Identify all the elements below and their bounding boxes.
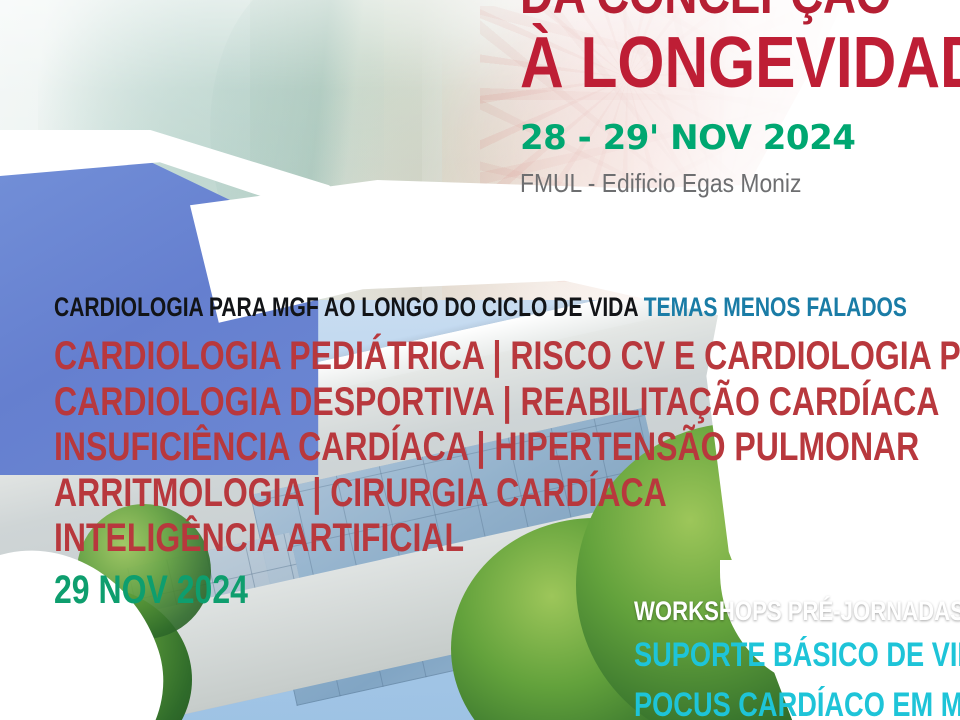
headline-line-1: DA CONCEPÇÃO [520, 0, 864, 22]
programme-block: CARDIOLOGIA PARA MGF AO LONGO DO CICLO D… [54, 294, 774, 614]
workshop-item: POCUS CARDÍACO EM MGF [634, 685, 898, 720]
headline-line-2: À LONGEVIDADE [520, 26, 873, 102]
workshop-item: SUPORTE BÁSICO DE VIDA [634, 635, 898, 675]
workshops-block: WORKSHOPS PRÉ-JORNADAS SUPORTE BÁSICO DE… [634, 598, 960, 720]
programme-topic: INSUFICIÊNCIA CARDÍACA | HIPERTENSÃO PUL… [54, 425, 630, 471]
programme-kicker: CARDIOLOGIA PARA MGF AO LONGO DO CICLO D… [54, 294, 616, 321]
programme-topic-list: CARDIOLOGIA PEDIÁTRICA | RISCO CV E CARD… [54, 334, 774, 562]
event-date: 28 - 29' NOV 2024 [520, 118, 940, 158]
programme-topic: ARRITMOLOGIA | CIRURGIA CARDÍACA [54, 471, 630, 517]
programme-topic: CARDIOLOGIA PEDIÁTRICA | RISCO CV E CARD… [54, 334, 630, 380]
programme-day-date: 29 NOV 2024 [54, 568, 630, 614]
programme-kicker-highlight: TEMAS MENOS FALADOS [644, 292, 907, 322]
programme-topic: INTELIGÊNCIA ARTIFICIAL [54, 516, 630, 562]
conference-poster: DA CONCEPÇÃO À LONGEVIDADE 28 - 29' NOV … [0, 0, 960, 720]
programme-topic: CARDIOLOGIA DESPORTIVA | REABILITAÇÃO CA… [54, 380, 630, 426]
programme-kicker-main: CARDIOLOGIA PARA MGF AO LONGO DO CICLO D… [54, 292, 638, 322]
headline-block: DA CONCEPÇÃO À LONGEVIDADE 28 - 29' NOV … [520, 0, 940, 199]
workshops-title: WORKSHOPS PRÉ-JORNADAS [634, 598, 905, 625]
event-venue: FMUL - Edificio Egas Moniz [520, 168, 890, 199]
